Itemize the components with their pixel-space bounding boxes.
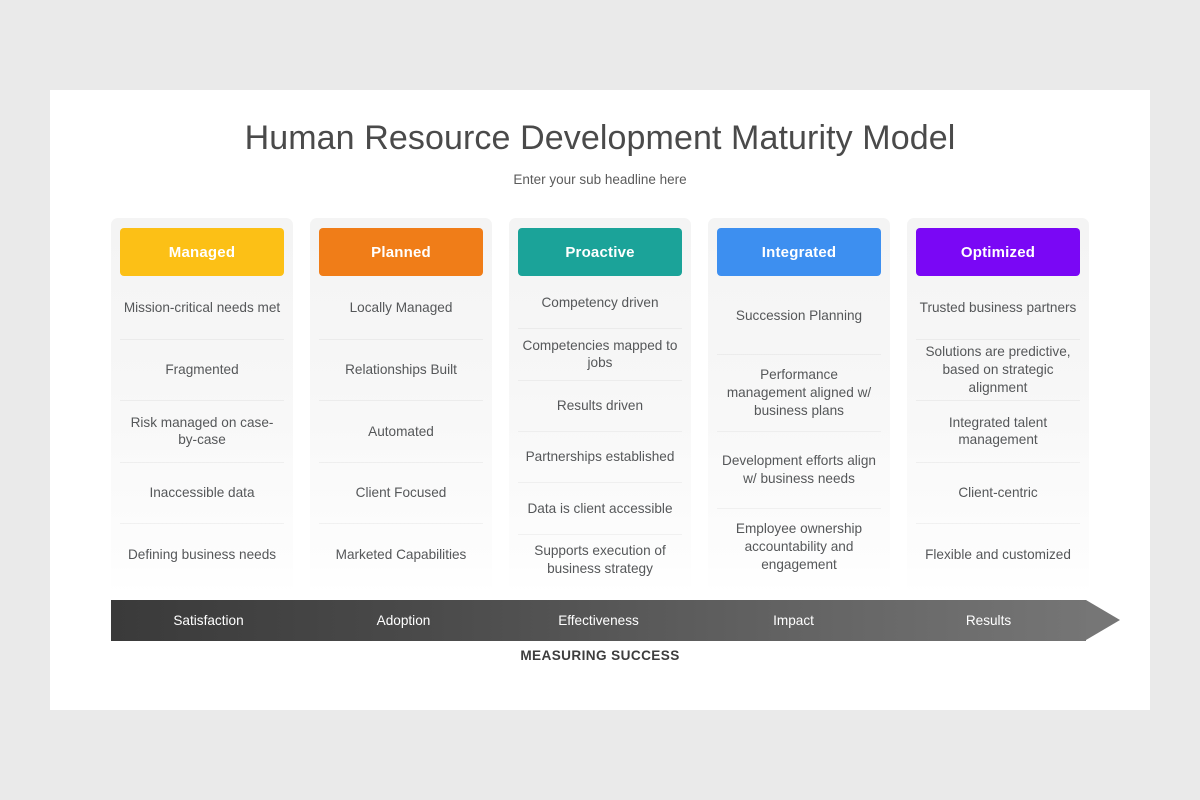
list-item: Integrated talent management	[916, 401, 1080, 463]
column-header-proactive[interactable]: Proactive	[518, 228, 682, 276]
list-item: Employee ownership accountability and en…	[717, 509, 881, 585]
list-item: Fragmented	[120, 340, 284, 402]
column-items-integrated: Succession Planning Performance manageme…	[717, 276, 881, 585]
column-header-integrated[interactable]: Integrated	[717, 228, 881, 276]
list-item: Solutions are predictive, based on strat…	[916, 340, 1080, 402]
column-items-proactive: Competency driven Competencies mapped to…	[518, 276, 682, 585]
list-item: Data is client accessible	[518, 483, 682, 534]
list-item: Automated	[319, 401, 483, 463]
column-items-planned: Locally Managed Relationships Built Auto…	[319, 276, 483, 585]
list-item: Results driven	[518, 381, 682, 432]
list-item: Succession Planning	[717, 278, 881, 355]
list-item: Partnerships established	[518, 432, 682, 483]
maturity-columns: Managed Mission-critical needs met Fragm…	[111, 218, 1089, 593]
bar-segment-adoption: Adoption	[306, 600, 501, 641]
maturity-column-proactive[interactable]: Proactive Competency driven Competencies…	[509, 218, 691, 593]
slide-canvas: Human Resource Development Maturity Mode…	[0, 0, 1200, 800]
list-item: Marketed Capabilities	[319, 524, 483, 585]
list-item: Performance management aligned w/ busine…	[717, 355, 881, 432]
page-subtitle: Enter your sub headline here	[50, 172, 1150, 187]
measurement-bar: Satisfaction Adoption Effectiveness Impa…	[111, 600, 1086, 641]
presentation-slide: Human Resource Development Maturity Mode…	[50, 90, 1150, 710]
measuring-success-label: MEASURING SUCCESS	[50, 648, 1150, 663]
list-item: Relationships Built	[319, 340, 483, 402]
column-items-optimized: Trusted business partners Solutions are …	[916, 276, 1080, 585]
column-header-planned[interactable]: Planned	[319, 228, 483, 276]
column-header-optimized[interactable]: Optimized	[916, 228, 1080, 276]
list-item: Inaccessible data	[120, 463, 284, 525]
list-item: Supports execution of business strategy	[518, 535, 682, 585]
list-item: Locally Managed	[319, 278, 483, 340]
list-item: Flexible and customized	[916, 524, 1080, 585]
column-items-managed: Mission-critical needs met Fragmented Ri…	[120, 276, 284, 585]
list-item: Client-centric	[916, 463, 1080, 525]
list-item: Mission-critical needs met	[120, 278, 284, 340]
bar-segment-results: Results	[891, 600, 1086, 641]
bar-segment-effectiveness: Effectiveness	[501, 600, 696, 641]
list-item: Risk managed on case-by-case	[120, 401, 284, 463]
bar-segment-impact: Impact	[696, 600, 891, 641]
bar-segment-satisfaction: Satisfaction	[111, 600, 306, 641]
page-title: Human Resource Development Maturity Mode…	[50, 119, 1150, 158]
maturity-column-managed[interactable]: Managed Mission-critical needs met Fragm…	[111, 218, 293, 593]
list-item: Development efforts align w/ business ne…	[717, 432, 881, 509]
maturity-column-planned[interactable]: Planned Locally Managed Relationships Bu…	[310, 218, 492, 593]
maturity-column-optimized[interactable]: Optimized Trusted business partners Solu…	[907, 218, 1089, 593]
maturity-column-integrated[interactable]: Integrated Succession Planning Performan…	[708, 218, 890, 593]
list-item: Competency driven	[518, 278, 682, 329]
list-item: Competencies mapped to jobs	[518, 329, 682, 380]
list-item: Defining business needs	[120, 524, 284, 585]
list-item: Client Focused	[319, 463, 483, 525]
list-item: Trusted business partners	[916, 278, 1080, 340]
column-header-managed[interactable]: Managed	[120, 228, 284, 276]
arrow-right-icon	[1086, 600, 1120, 640]
